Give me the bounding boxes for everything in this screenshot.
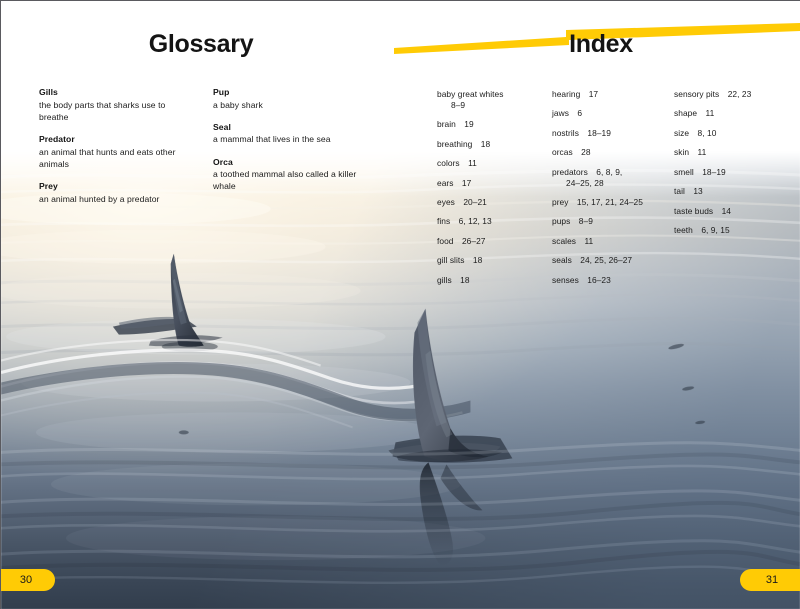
index-entry-label: gill slits [437,255,465,265]
index-entry-label: breathing [437,139,472,149]
index-entry-label: smell [674,167,694,177]
index-entry-pages: 18–19 [579,128,611,138]
glossary-entry: Pup a baby shark [213,87,369,111]
index-entry-label: gills [437,275,452,285]
index-entry-label: hearing [552,89,580,99]
index-entry: nostrils 18–19 [552,128,674,139]
index-entry-pages: 14 [713,206,731,216]
left-page: Glossary Gills the body parts that shark… [1,1,401,281]
book-spread: Glossary Gills the body parts that shark… [0,0,800,609]
index-entry-label: food [437,236,454,246]
index-entry-label: eyes [437,197,455,207]
index-column-1: baby great whites8–9brain 19breathing 18… [437,89,552,294]
index-entry-label: skin [674,147,689,157]
glossary-definition: a baby shark [213,99,369,111]
index-entry: senses 16–23 [552,275,674,286]
index-entry-pages: 15, 17, 21, 24–25 [569,197,643,207]
index-entry-pages: 11 [689,147,706,157]
glossary-column-2: Pup a baby shark Seal a mammal that live… [213,87,369,216]
index-entry-pages: 6, 9, 15 [693,225,730,235]
glossary-term: Orca [213,157,369,169]
index-entry: taste buds 14 [674,206,782,217]
index-entry-pages: 28 [573,147,591,157]
glossary-entry: Seal a mammal that lives in the sea [213,122,369,146]
index-entry: prey 15, 17, 21, 24–25 [552,197,674,208]
index-entry-pages: 6, 12, 13 [450,216,491,226]
index-entry: food 26–27 [437,236,552,247]
index-entry: predators 6, 8, 9,24–25, 28 [552,167,674,189]
glossary-term: Predator [39,134,195,146]
index-entry: ears 17 [437,178,552,189]
index-entry-pages: 18–19 [694,167,726,177]
index-entry-label: colors [437,158,460,168]
glossary-term: Gills [39,87,195,99]
index-entry-pages: 16–23 [579,275,611,285]
index-entry-label: senses [552,275,579,285]
glossary-entry: Predator an animal that hunts and eats o… [39,134,195,170]
index-entry-pages: 18 [465,255,483,265]
index-entry: sensory pits 22, 23 [674,89,782,100]
index-entry: orcas 28 [552,147,674,158]
index-entry: breathing 18 [437,139,552,150]
index-entry-pages: 8, 10 [689,128,716,138]
index-entry-pages: 11 [697,108,714,118]
index-page-title: Index [401,32,800,57]
index-entry-label: baby great whites [437,89,504,99]
glossary-term: Pup [213,87,369,99]
index-entry: colors 11 [437,158,552,169]
glossary-entry: Orca a toothed mammal also called a kill… [213,157,369,193]
page-number-badge-right: 31 [740,569,800,591]
index-entry-pages: 11 [460,158,477,168]
index-entry-label: ears [437,178,454,188]
glossary-page-title: Glossary [1,32,401,57]
index-entry-label: tail [674,186,685,196]
index-entry-pages: 18 [472,139,490,149]
index-entry-pages: 8–9 [570,216,593,226]
index-column-2: hearing 17jaws 6nostrils 18–19orcas 28pr… [552,89,674,294]
index-entry-label: nostrils [552,128,579,138]
index-entry-pages: 17 [454,178,472,188]
index-entry: seals 24, 25, 26–27 [552,255,674,266]
index-entry-label: size [674,128,689,138]
index-entry-pages: 11 [576,236,593,246]
index-entry: fins 6, 12, 13 [437,216,552,227]
index-entry-pages-continued: 24–25, 28 [552,178,674,189]
index-entry-label: brain [437,119,456,129]
right-page: Index baby great whites8–9brain 19breath… [401,1,800,281]
index-entry-pages: 24, 25, 26–27 [572,255,632,265]
index-entry: jaws 6 [552,108,674,119]
glossary-column-1: Gills the body parts that sharks use to … [39,87,195,216]
index-entry-pages: 20–21 [455,197,487,207]
index-entry-pages-continued: 8–9 [437,100,552,111]
index-entry-label: pups [552,216,570,226]
glossary-definition: a mammal that lives in the sea [213,133,369,145]
index-entry-label: fins [437,216,450,226]
index-entry-label: predators [552,167,588,177]
index-entry-pages: 19 [456,119,474,129]
index-entry: scales 11 [552,236,674,247]
glossary-term: Seal [213,122,369,134]
page-number-left: 30 [20,574,32,586]
index-entry-pages: 22, 23 [719,89,751,99]
index-entry-pages: 6, 8, 9, [588,167,622,177]
index-entry: brain 19 [437,119,552,130]
index-entry-pages: 18 [452,275,470,285]
index-entry: size 8, 10 [674,128,782,139]
index-entry-label: orcas [552,147,573,157]
page-number-badge-left: 30 [1,569,55,591]
glossary-definition: an animal hunted by a predator [39,193,195,205]
index-entry-pages: 6 [569,108,582,118]
glossary-definition: an animal that hunts and eats other anim… [39,146,195,170]
index-columns: baby great whites8–9brain 19breathing 18… [437,89,782,294]
index-entry-pages: 26–27 [454,236,486,246]
page-number-right: 31 [766,574,778,586]
index-entry-label: sensory pits [674,89,719,99]
index-entry: hearing 17 [552,89,674,100]
index-entry-label: scales [552,236,576,246]
index-entry: shape 11 [674,108,782,119]
index-entry: pups 8–9 [552,216,674,227]
glossary-columns: Gills the body parts that sharks use to … [39,87,369,216]
glossary-entry: Prey an animal hunted by a predator [39,181,195,205]
index-entry: baby great whites8–9 [437,89,552,111]
glossary-term: Prey [39,181,195,193]
index-entry-label: prey [552,197,569,207]
index-entry-label: seals [552,255,572,265]
index-entry: eyes 20–21 [437,197,552,208]
index-entry-pages: 13 [685,186,703,196]
index-entry-label: shape [674,108,697,118]
index-entry: smell 18–19 [674,167,782,178]
index-entry-label: jaws [552,108,569,118]
index-column-3: sensory pits 22, 23shape 11size 8, 10ski… [674,89,782,294]
index-entry: skin 11 [674,147,782,158]
index-entry-pages: 17 [580,89,598,99]
index-entry-label: teeth [674,225,693,235]
index-entry: teeth 6, 9, 15 [674,225,782,236]
glossary-definition: the body parts that sharks use to breath… [39,99,195,123]
index-entry: tail 13 [674,186,782,197]
index-entry-label: taste buds [674,206,713,216]
glossary-entry: Gills the body parts that sharks use to … [39,87,195,123]
index-entry: gills 18 [437,275,552,286]
index-entry: gill slits 18 [437,255,552,266]
glossary-definition: a toothed mammal also called a killer wh… [213,168,369,192]
